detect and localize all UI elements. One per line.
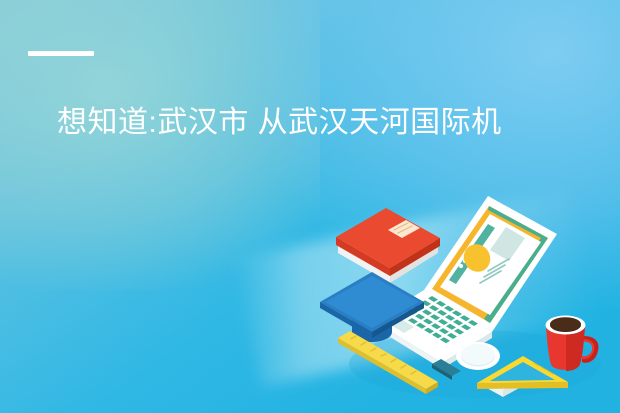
page-title: 想知道:武汉市 从武汉天河国际机 — [57, 103, 620, 143]
education-desk-illustration — [320, 186, 620, 413]
accent-rule — [28, 51, 94, 56]
background-glow-top-left — [0, 0, 320, 290]
promo-banner: 想知道:武汉市 从武汉天河国际机 — [0, 0, 620, 413]
book-graphic — [336, 208, 440, 283]
